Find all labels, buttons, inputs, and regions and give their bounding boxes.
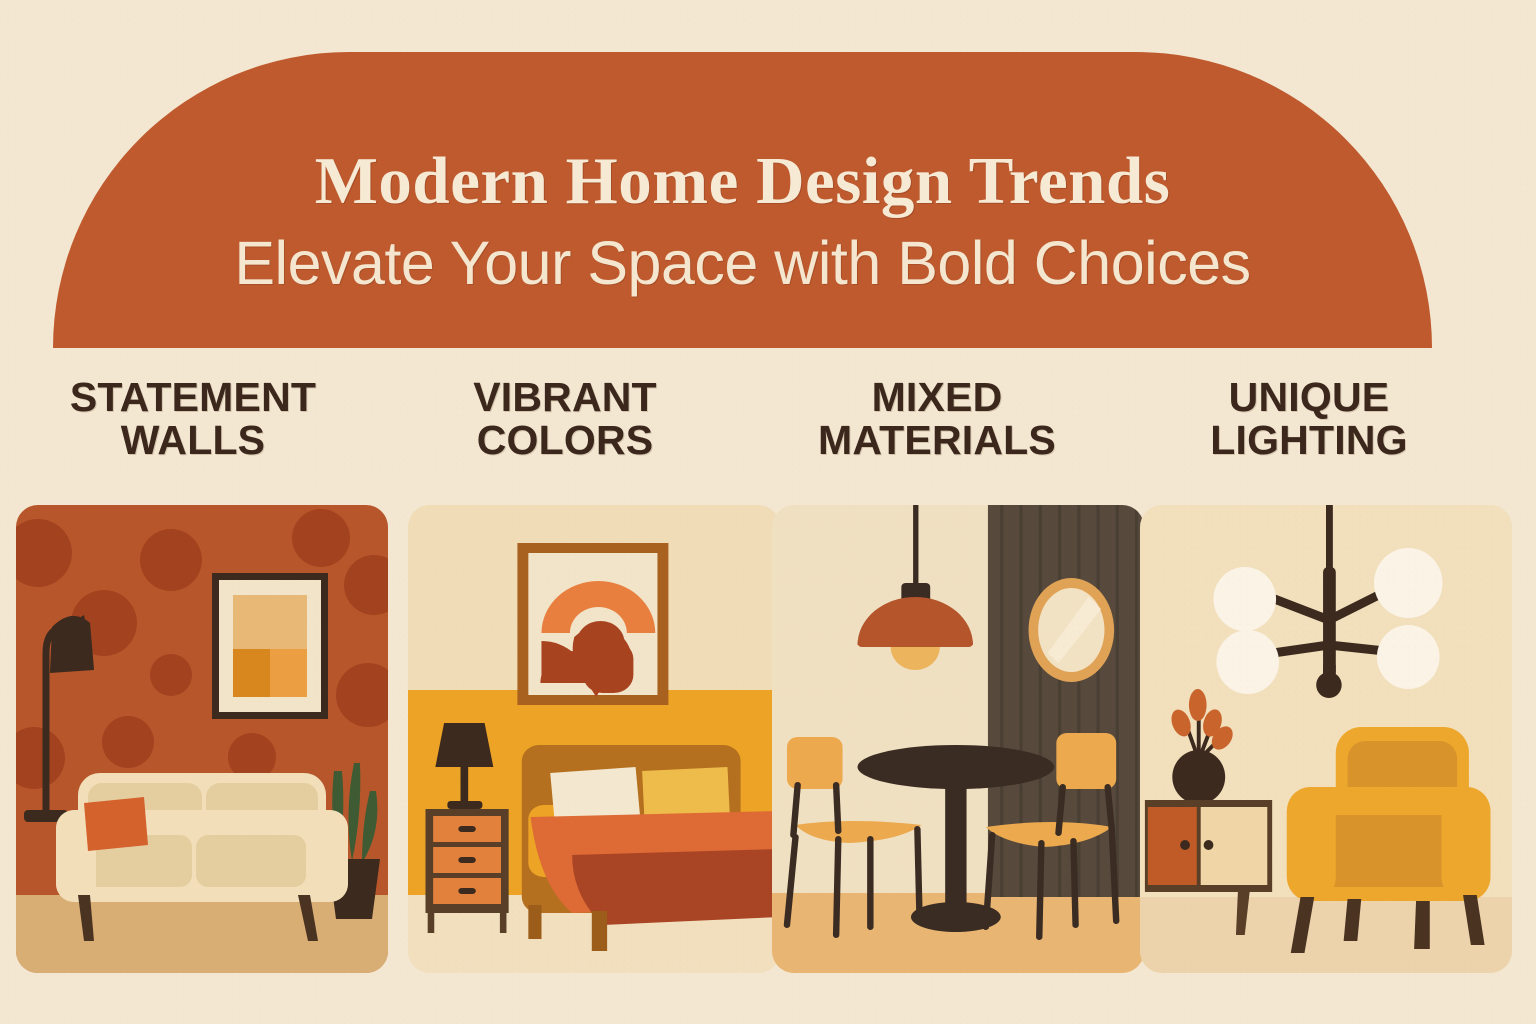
category-heading-line1: MIXED	[872, 374, 1003, 420]
category-heading-line2: WALLS	[8, 419, 378, 462]
infographic-canvas: Modern Home Design Trends Elevate Your S…	[0, 0, 1536, 1024]
page-subtitle: Elevate Your Space with Bold Choices	[53, 233, 1432, 294]
vase	[1172, 750, 1225, 804]
header-text-block: Modern Home Design Trends Elevate Your S…	[53, 148, 1432, 294]
pillow-right	[642, 767, 730, 817]
globe-bulb	[1374, 548, 1443, 618]
category-heading-vibrant-colors: VIBRANT COLORS	[380, 376, 750, 461]
header-arch: Modern Home Design Trends Elevate Your S…	[53, 52, 1432, 348]
category-heading-line1: VIBRANT	[473, 374, 657, 420]
globe-bulb	[1377, 625, 1440, 689]
category-heading-line2: COLORS	[380, 419, 750, 462]
category-heading-line1: STATEMENT	[70, 374, 316, 420]
accent-pillow	[84, 797, 148, 851]
page-title: Modern Home Design Trends	[53, 148, 1432, 215]
illustration-panel-unique-lighting	[1140, 505, 1512, 973]
globe-bulb	[1216, 630, 1279, 694]
illustration-panel-vibrant-colors	[408, 505, 780, 973]
framed-arch-art	[517, 543, 668, 705]
framed-abstract-art	[212, 573, 328, 719]
floor	[1140, 897, 1512, 973]
globe-bulb	[1213, 567, 1276, 631]
floor	[16, 895, 388, 973]
category-heading-line1: UNIQUE	[1229, 374, 1390, 420]
oval-mirror	[1029, 578, 1115, 682]
category-heading-unique-lighting: UNIQUE LIGHTING	[1124, 376, 1494, 461]
illustration-panel-statement-walls	[16, 505, 388, 973]
illustration-panel-mixed-materials	[772, 505, 1144, 973]
pillow-left	[550, 767, 640, 821]
category-heading-mixed-materials: MIXED MATERIALS	[752, 376, 1122, 461]
category-heading-statement-walls: STATEMENT WALLS	[8, 376, 378, 461]
category-heading-line2: MATERIALS	[752, 419, 1122, 462]
category-heading-line2: LIGHTING	[1124, 419, 1494, 462]
